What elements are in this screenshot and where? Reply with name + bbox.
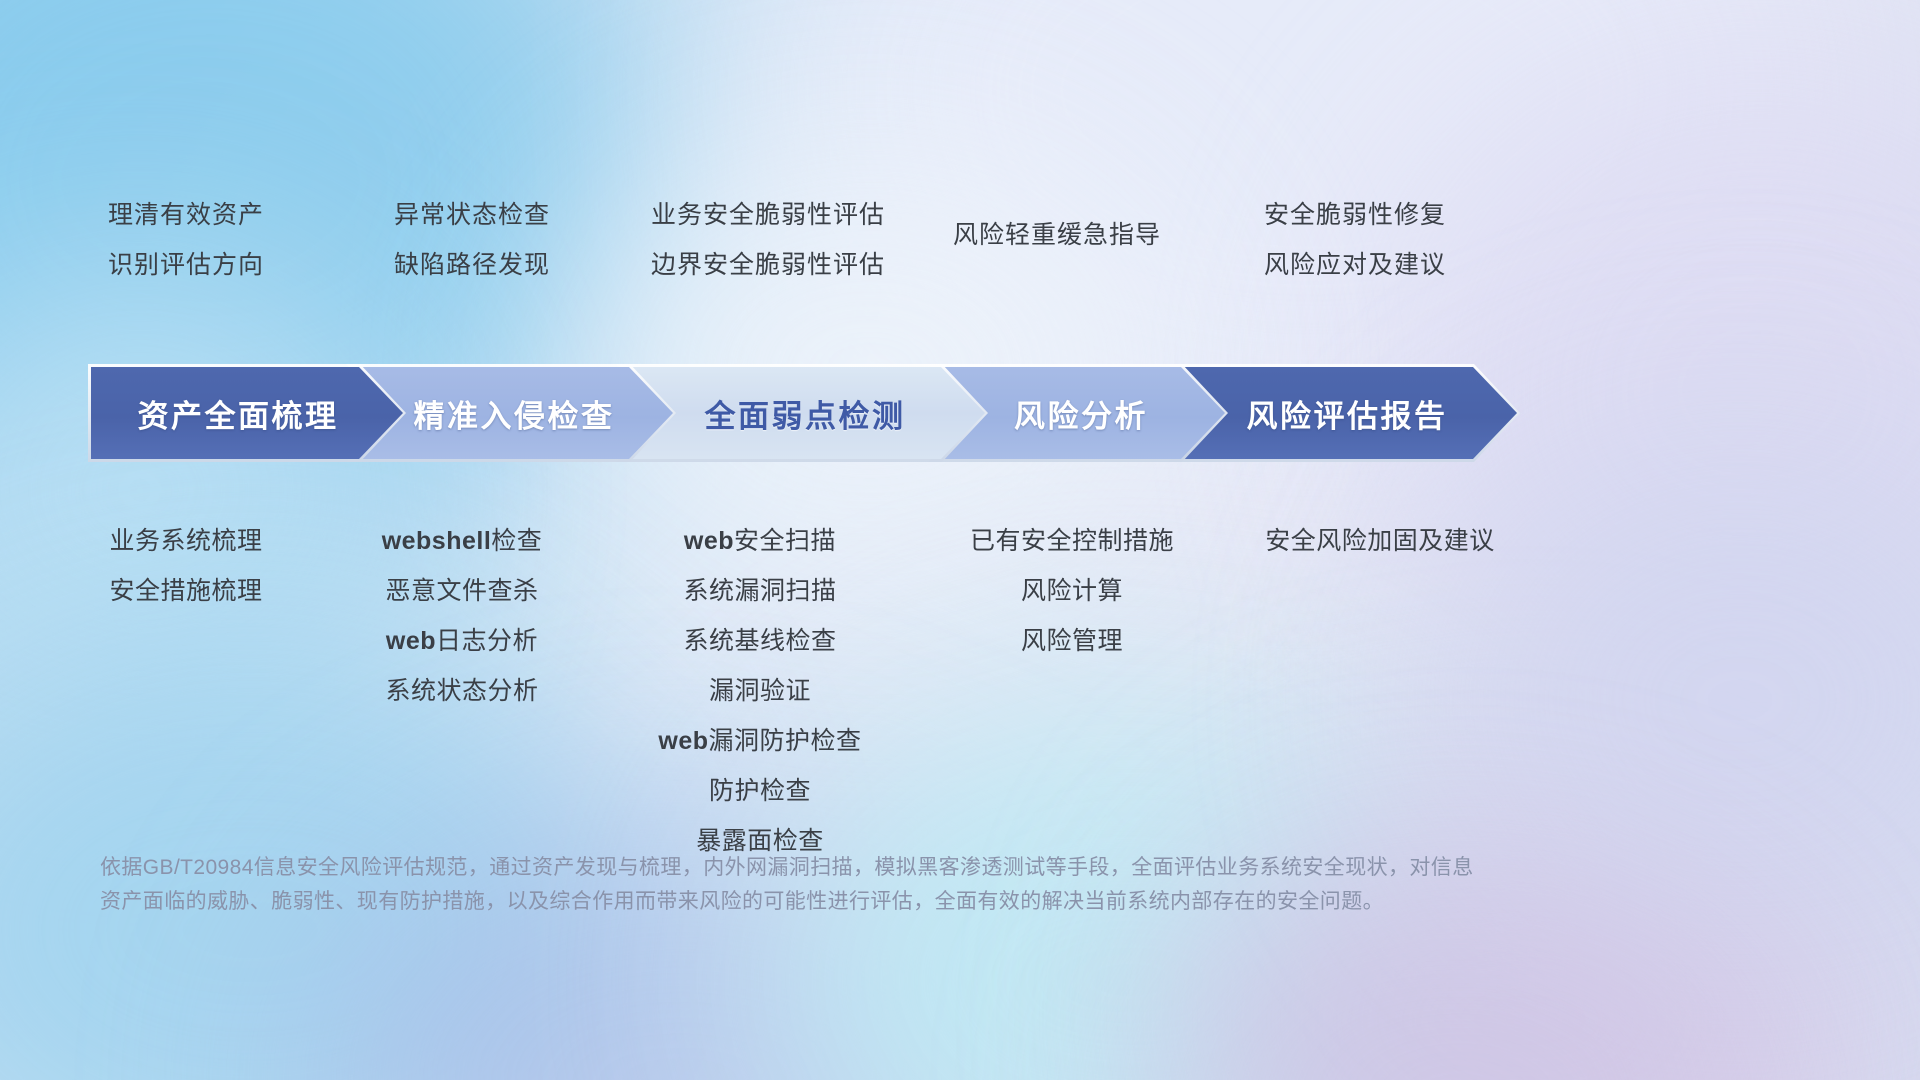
top-label-item: 安全脆弱性修复 <box>1105 190 1605 240</box>
detail-list-5: 安全风险加固及建议 <box>1130 516 1630 566</box>
diagram-content: 理清有效资产识别评估方向异常状态检查缺陷路径发现业务安全脆弱性评估边界安全脆弱性… <box>0 0 1920 1080</box>
footer-line-1: 依据GB/T20984信息安全风险评估规范，通过资产发现与梳理，内外网漏洞扫描，… <box>100 851 1660 885</box>
detail-list-item: 漏洞验证 <box>510 666 1010 716</box>
detail-item-keyword: web <box>684 527 734 555</box>
process-arrow-label-4: 风险分析 <box>1014 391 1148 436</box>
detail-list-item: 风险管理 <box>822 616 1322 666</box>
process-arrow-label-2: 精准入侵检查 <box>414 391 615 436</box>
process-arrow-1[interactable]: 资产全面梳理 <box>88 364 406 462</box>
top-labels-5: 安全脆弱性修复风险应对及建议 <box>1105 190 1605 290</box>
detail-list-item: web漏洞防护检查 <box>510 716 1010 766</box>
process-arrow-band: 资产全面梳理精准入侵检查全面弱点检测风险分析风险评估报告 <box>88 364 1836 462</box>
detail-item-keyword: webshell <box>382 527 492 555</box>
process-arrow-label-1: 资产全面梳理 <box>138 391 339 436</box>
footer-description: 依据GB/T20984信息安全风险评估规范，通过资产发现与梳理，内外网漏洞扫描，… <box>100 851 1660 919</box>
detail-list-item: 防护检查 <box>510 766 1010 816</box>
detail-item-keyword: web <box>658 727 708 755</box>
detail-list-item: 风险计算 <box>822 566 1322 616</box>
detail-item-keyword: web <box>386 627 436 655</box>
footer-line-2: 资产面临的威胁、脆弱性、现有防护措施，以及综合作用而带来风险的可能性进行评估，全… <box>100 885 1660 919</box>
process-arrow-label-3: 全面弱点检测 <box>705 391 906 436</box>
detail-list-item: 安全风险加固及建议 <box>1130 516 1630 566</box>
top-label-item: 风险应对及建议 <box>1105 240 1605 290</box>
process-arrow-label-5: 风险评估报告 <box>1247 391 1448 436</box>
